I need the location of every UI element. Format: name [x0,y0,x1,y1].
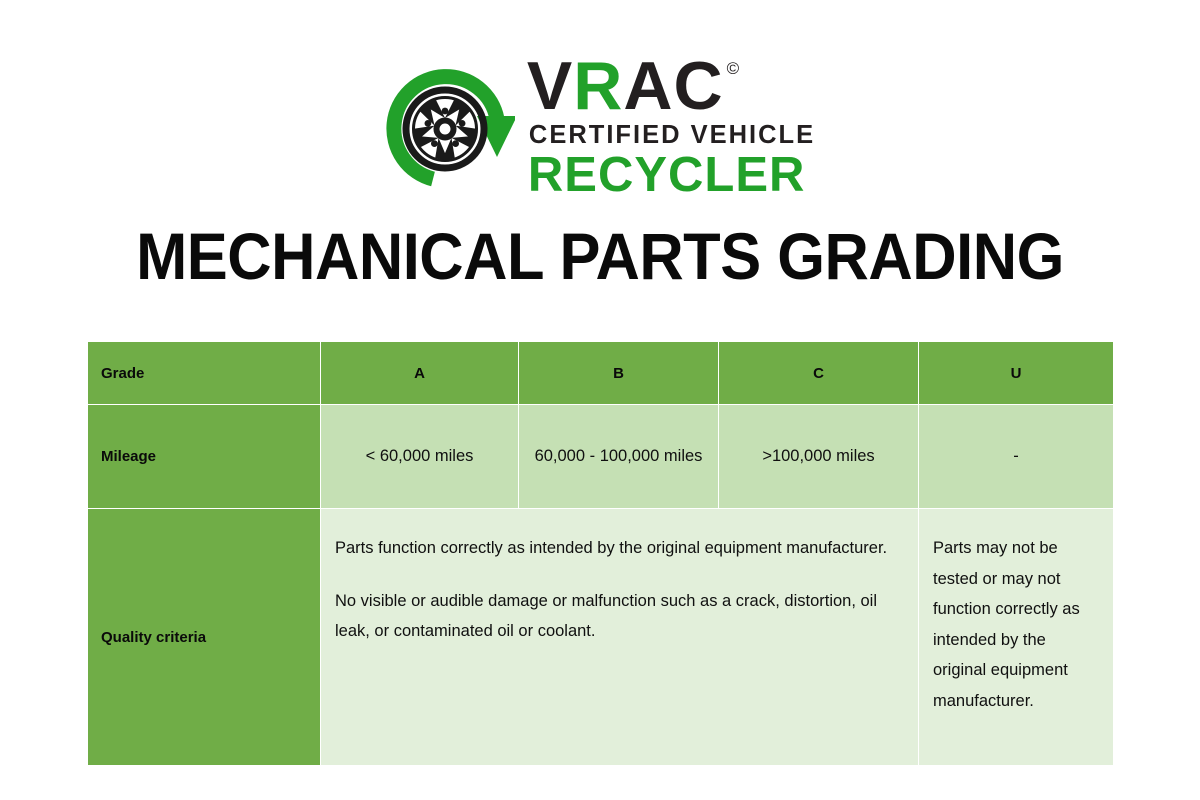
row-label-mileage: Mileage [88,405,321,509]
header-grade-a: A [321,342,519,405]
header-grade-b: B [519,342,719,405]
quality-criteria-u: Parts may not be tested or may not funct… [919,509,1114,766]
row-label-quality-criteria: Quality criteria [88,509,321,766]
mileage-grade-b: 60,000 - 100,000 miles [519,405,719,509]
page-title: MECHANICAL PARTS GRADING [42,218,1158,294]
mileage-grade-a: < 60,000 miles [321,405,519,509]
quality-criteria-abc: Parts function correctly as intended by … [321,509,919,766]
mileage-grade-c: >100,000 miles [719,405,919,509]
logo-recycler-word: RECYCLER [528,151,815,200]
table-row-mileage: Mileage < 60,000 miles 60,000 - 100,000 … [88,405,1114,509]
header-grade-u: U [919,342,1114,405]
table-header-row: Grade A B C U [88,342,1114,405]
vrac-logo: VRAC © CERTIFIED VEHICLE RECYCLER [0,52,1200,202]
copyright-icon: © [727,60,740,77]
mechanical-parts-grading-table: Grade A B C U Mileage < 60,000 miles 60,… [87,341,1114,766]
recycle-arrow-wheel-icon [385,61,515,193]
grading-poster: VRAC © CERTIFIED VEHICLE RECYCLER MECHAN… [0,0,1200,800]
quality-paragraph-1: Parts function correctly as intended by … [335,533,900,564]
table-row-quality-criteria: Quality criteria Parts function correctl… [88,509,1114,766]
mileage-grade-u: - [919,405,1114,509]
logo-tagline: CERTIFIED VEHICLE [529,123,815,149]
quality-paragraph-2: No visible or audible damage or malfunct… [335,586,900,647]
header-grade-c: C [719,342,919,405]
header-grade-label: Grade [88,342,321,405]
logo-brand-name: VRAC [527,54,724,119]
